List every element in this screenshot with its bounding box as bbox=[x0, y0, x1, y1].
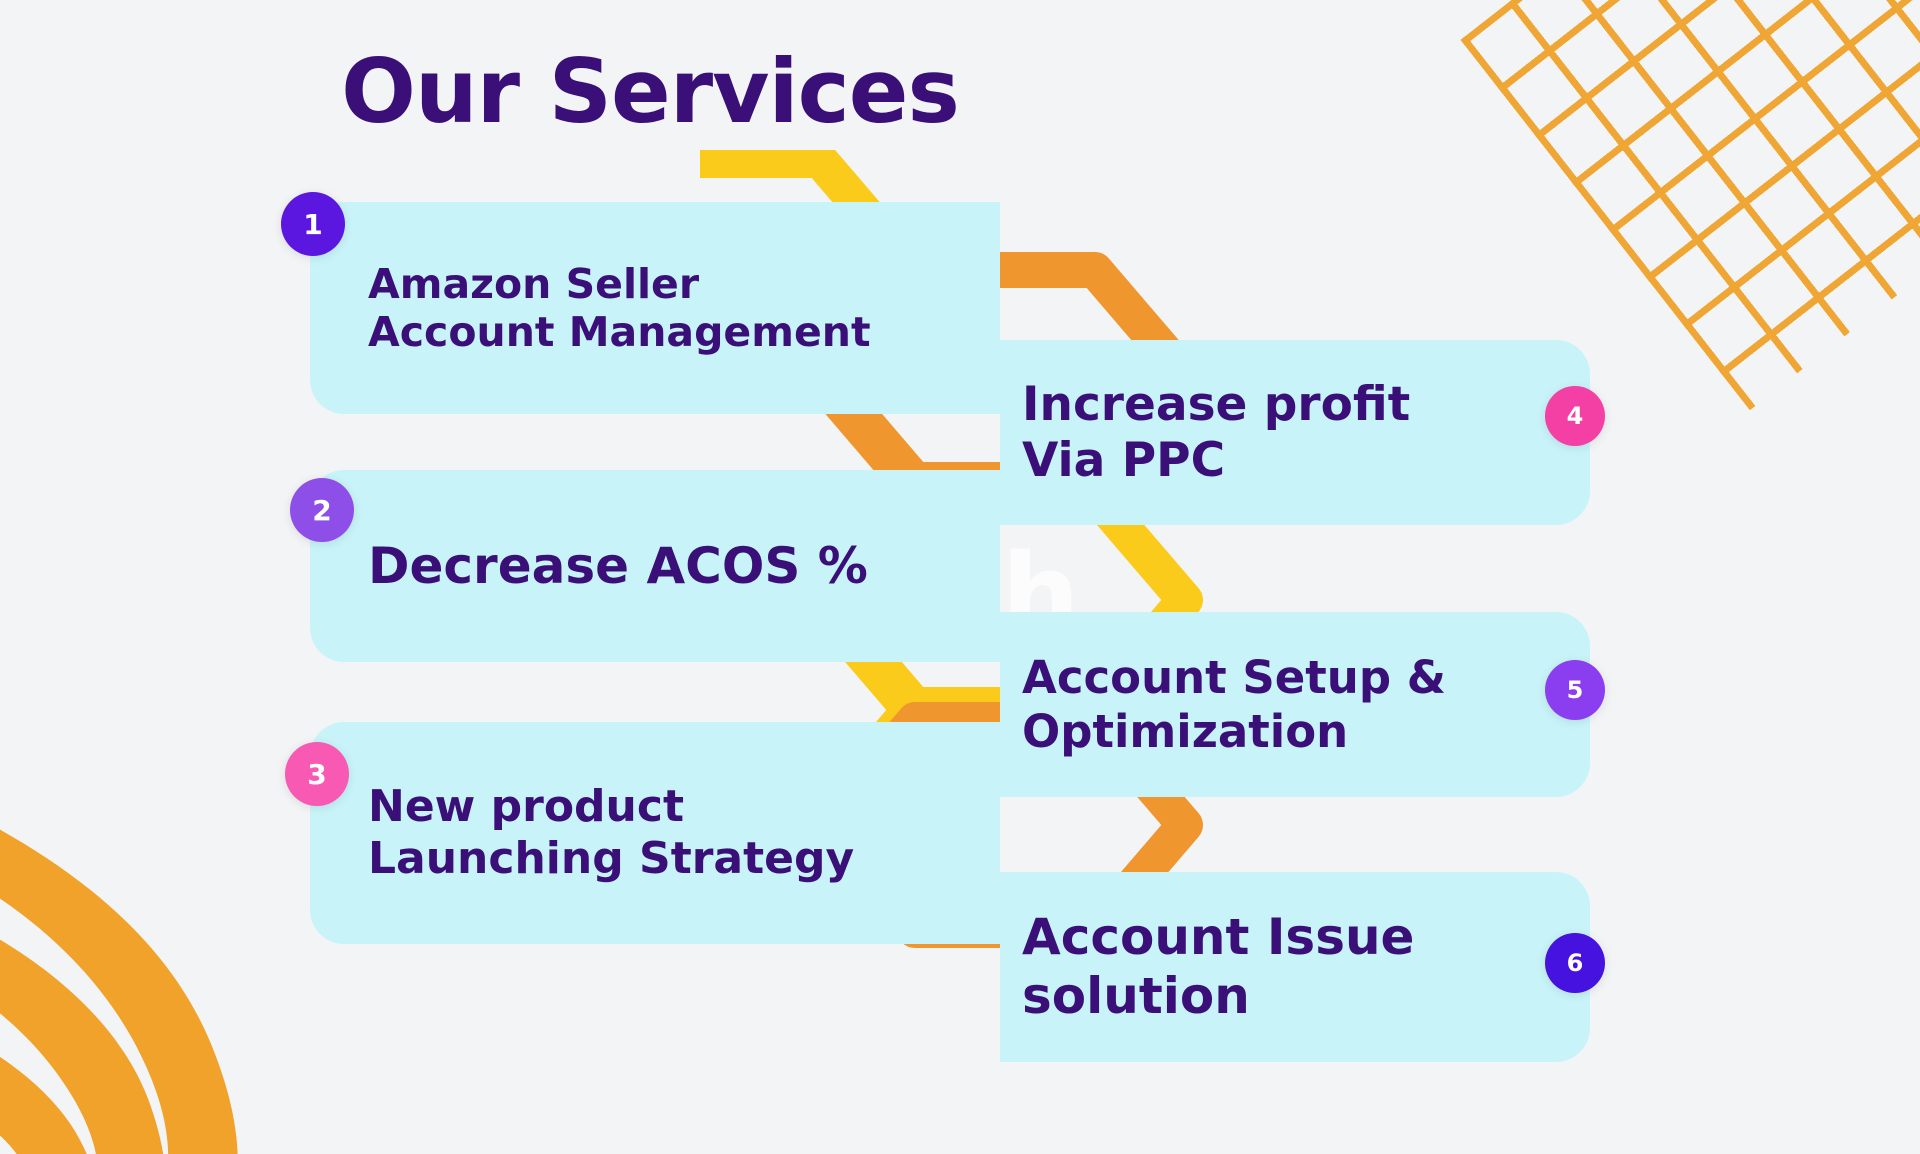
service-card-4[interactable]: Increase profit Via PPC bbox=[1000, 340, 1590, 525]
service-badge-5-number: 5 bbox=[1567, 676, 1584, 704]
service-badge-4[interactable]: 4 bbox=[1545, 386, 1605, 446]
service-card-1-label: Amazon Seller Account Management bbox=[368, 260, 871, 357]
service-badge-1[interactable]: 1 bbox=[281, 192, 345, 256]
service-badge-2-number: 2 bbox=[312, 494, 331, 527]
service-badge-3-number: 3 bbox=[307, 758, 326, 791]
service-card-5[interactable]: Account Setup & Optimization bbox=[1000, 612, 1590, 797]
service-card-2[interactable]: Decrease ACOS % bbox=[310, 470, 1000, 662]
page-title: Our Services bbox=[0, 40, 1300, 143]
service-card-5-label: Account Setup & Optimization bbox=[1022, 651, 1446, 757]
service-badge-1-number: 1 bbox=[303, 208, 322, 241]
service-badge-3[interactable]: 3 bbox=[285, 742, 349, 806]
service-badge-2[interactable]: 2 bbox=[290, 478, 354, 542]
service-card-2-label: Decrease ACOS % bbox=[368, 537, 868, 596]
service-card-1[interactable]: Amazon Seller Account Management bbox=[310, 202, 1000, 414]
service-card-3-label: New product Launching Strategy bbox=[368, 781, 854, 885]
service-card-3[interactable]: New product Launching Strategy bbox=[310, 722, 1000, 944]
service-badge-4-number: 4 bbox=[1567, 402, 1584, 430]
service-badge-6-number: 6 bbox=[1567, 949, 1584, 977]
service-card-6[interactable]: Account Issue solution bbox=[1000, 872, 1590, 1062]
services-infographic: Our Services cappeh Amazon Seller Accoun… bbox=[0, 0, 1920, 1154]
service-card-4-label: Increase profit Via PPC bbox=[1022, 377, 1410, 488]
service-badge-5[interactable]: 5 bbox=[1545, 660, 1605, 720]
service-card-6-label: Account Issue solution bbox=[1022, 908, 1414, 1026]
wave-ribbon-decoration bbox=[0, 784, 360, 1154]
service-badge-6[interactable]: 6 bbox=[1545, 933, 1605, 993]
